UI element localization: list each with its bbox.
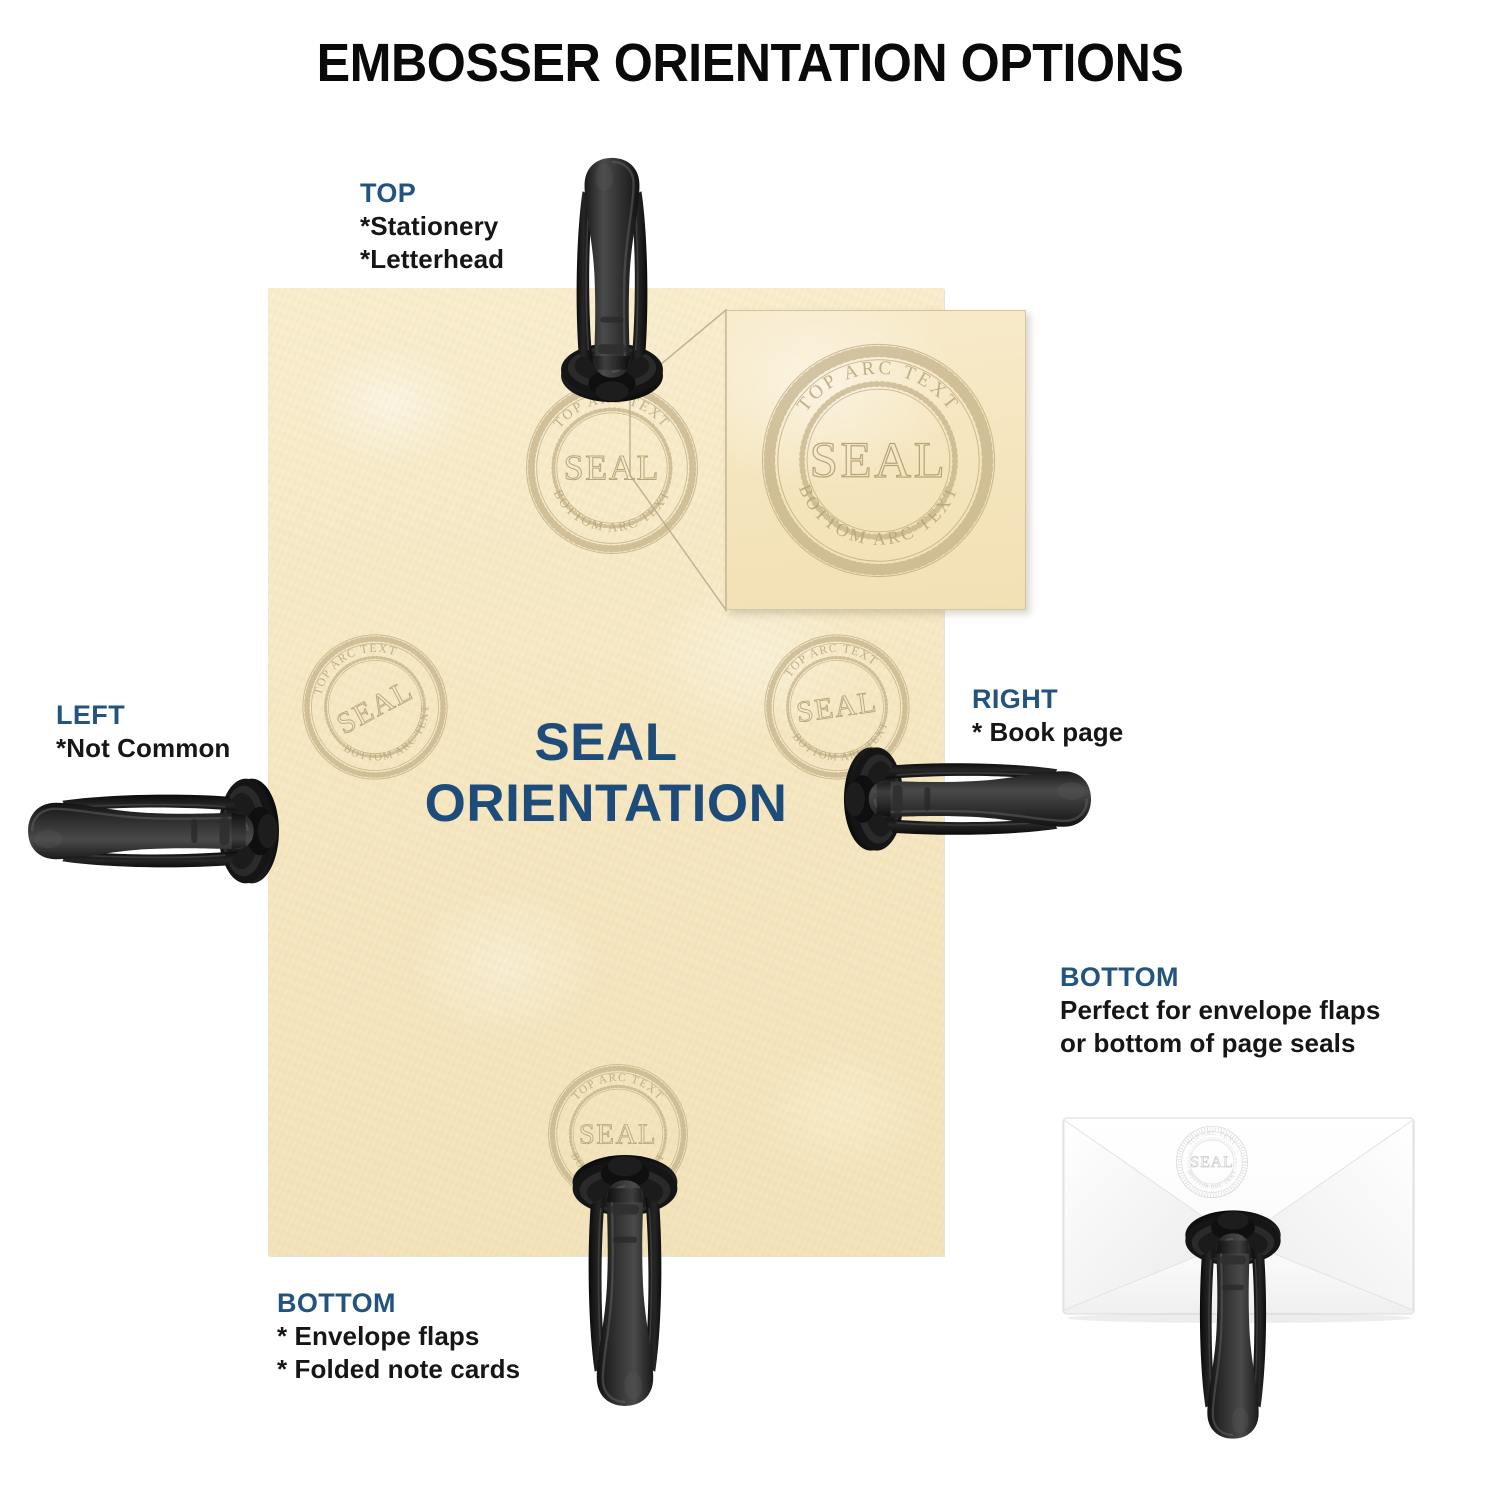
callout-right-line-1: * Book page — [972, 716, 1123, 749]
callout-top-line-1: *Stationery — [360, 210, 504, 243]
embossed-seal-magnified: TOP ARC TEXT BOTTOM ARC TEXT SEAL — [751, 333, 1006, 588]
embosser-tool-bottom[interactable] — [564, 1150, 686, 1412]
callout-left-heading: LEFT — [56, 700, 230, 732]
callout-envelope: BOTTOM Perfect for envelope flaps or bot… — [1060, 962, 1380, 1060]
embosser-tool-right[interactable] — [839, 739, 1097, 859]
seal-bottom-arc-text: BOTTOM ARC TEXT — [795, 481, 962, 549]
svg-text:BOTTOM ARC TEXT: BOTTOM ARC TEXT — [795, 481, 962, 549]
callout-right: RIGHT * Book page — [972, 684, 1123, 749]
callout-envelope-line-2: or bottom of page seals — [1060, 1027, 1380, 1060]
callout-top-line-2: *Letterhead — [360, 243, 504, 276]
page-title: EMBOSSER ORIENTATION OPTIONS — [53, 32, 1448, 94]
callout-envelope-heading: BOTTOM — [1060, 962, 1380, 994]
callout-bottom-line-2: * Folded note cards — [277, 1353, 520, 1386]
callout-bottom: BOTTOM * Envelope flaps * Folded note ca… — [277, 1288, 520, 1386]
callout-left: LEFT *Not Common — [56, 700, 230, 765]
embossed-seal-envelope: TOP ARC TEXT BOTTOM ARC TEXT SEAL — [1172, 1122, 1252, 1202]
seal-center-text: SEAL — [579, 1118, 657, 1150]
callout-bottom-heading: BOTTOM — [277, 1288, 520, 1320]
embosser-tool-envelope[interactable] — [1178, 1200, 1288, 1450]
callout-top-heading: TOP — [360, 178, 504, 210]
diagram-canvas: EMBOSSER ORIENTATION OPTIONS TOP ARC TEX… — [0, 0, 1500, 1500]
callout-top: TOP *Stationery *Letterhead — [360, 178, 504, 276]
seal-center-text: SEAL — [810, 433, 948, 489]
embosser-tool-left[interactable] — [22, 770, 284, 892]
callout-left-line-1: *Not Common — [56, 732, 230, 765]
magnified-seal-panel: TOP ARC TEXT BOTTOM ARC TEXT SEAL — [726, 310, 1026, 610]
seal-center-text: SEAL — [1190, 1154, 1233, 1171]
callout-bottom-line-1: * Envelope flaps — [277, 1320, 520, 1353]
callout-envelope-line-1: Perfect for envelope flaps — [1060, 994, 1380, 1027]
embosser-tool-top[interactable] — [553, 152, 671, 407]
callout-right-heading: RIGHT — [972, 684, 1123, 716]
